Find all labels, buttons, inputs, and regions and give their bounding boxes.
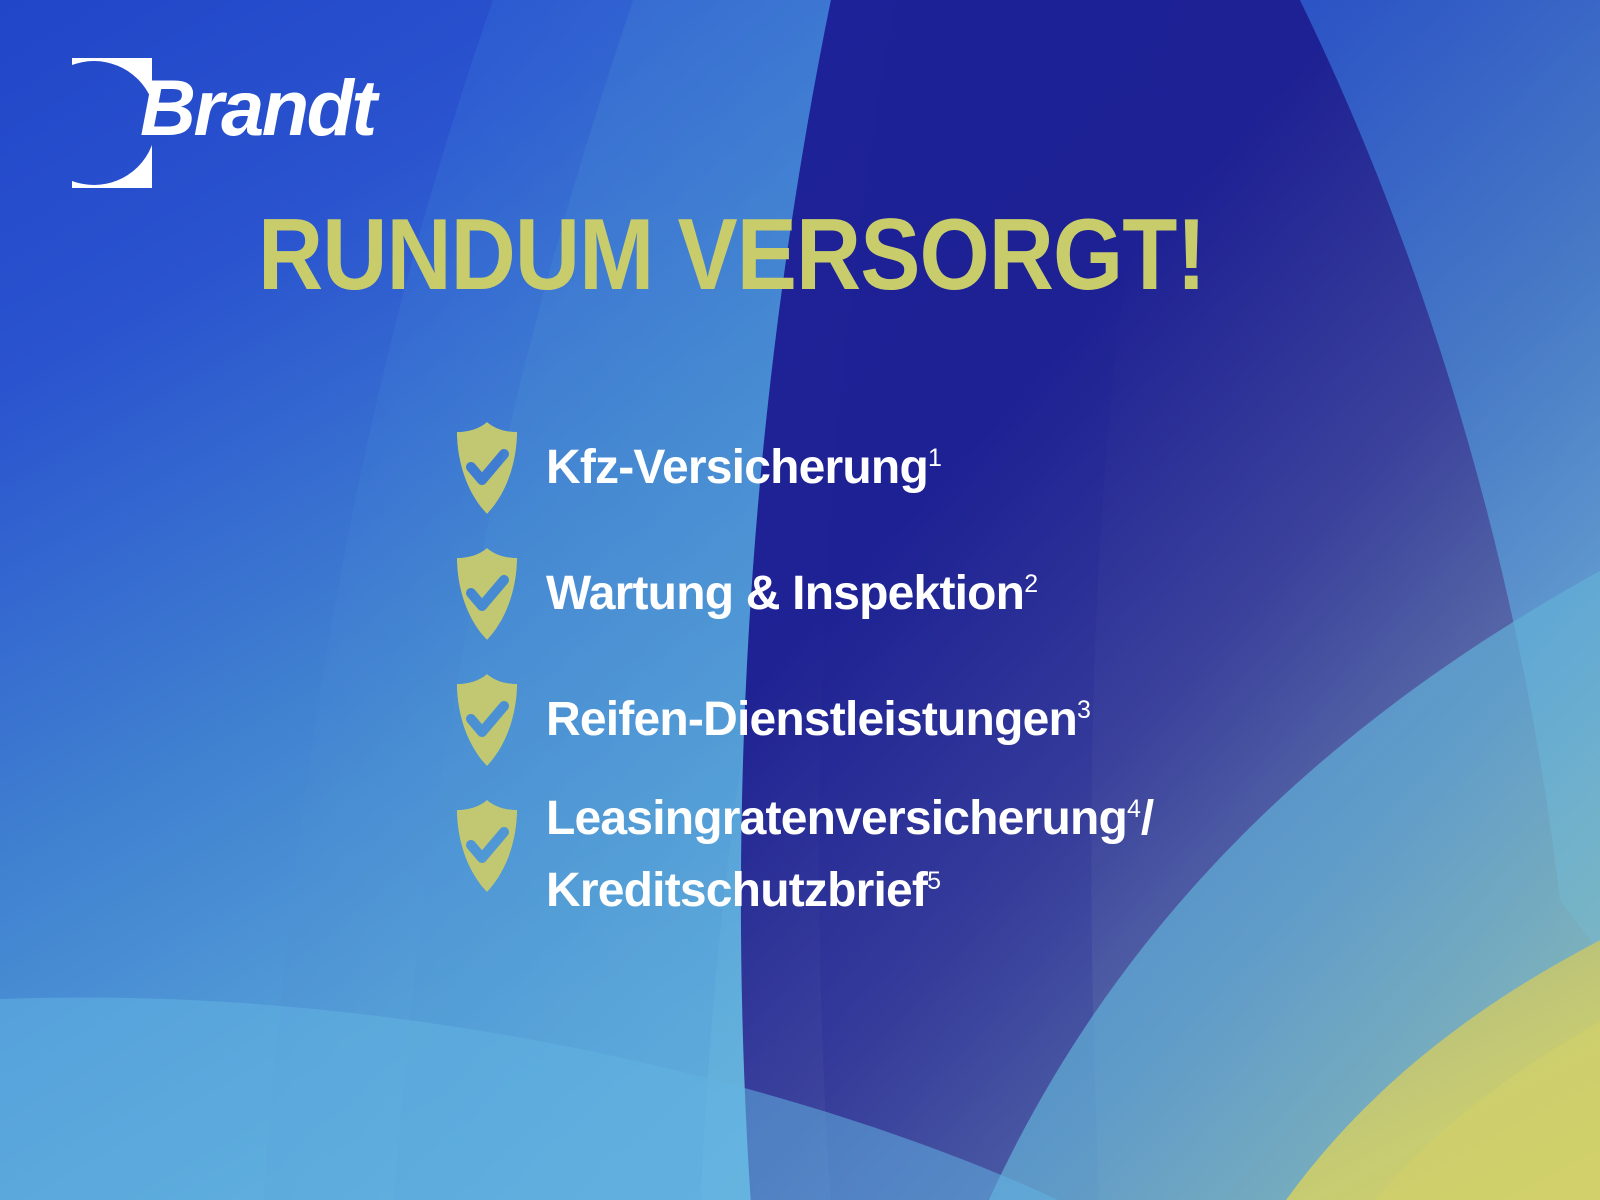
feature-list: Kfz-Versicherung1 Wartung & Inspektion2	[452, 416, 1552, 938]
footnote-marker: 2	[1024, 570, 1038, 598]
list-item: Wartung & Inspektion2	[452, 542, 1552, 646]
brand-wordmark: Brandt	[140, 68, 375, 147]
shield-check-icon	[452, 798, 522, 894]
page-title: RUNDUM VERSORGT!	[258, 205, 1206, 306]
feature-label: Reifen-Dienstleistungen3	[546, 695, 1091, 745]
footnote-marker: 1	[928, 444, 942, 472]
footnote-marker: 5	[927, 867, 941, 895]
feature-text-line2: Kreditschutzbrief	[546, 864, 927, 917]
feature-suffix: /	[1141, 792, 1154, 845]
feature-text: Kfz-Versicherung	[546, 441, 928, 494]
feature-text: Wartung & Inspektion	[546, 567, 1024, 620]
feature-label-line2: Kreditschutzbrief5	[546, 866, 1153, 916]
shield-check-icon	[452, 546, 522, 642]
feature-text: Reifen-Dienstleistungen	[546, 693, 1077, 746]
brand-logo: Brandt	[72, 56, 442, 192]
feature-text: Leasingratenversicherung	[546, 792, 1127, 845]
list-item: Kfz-Versicherung1	[452, 416, 1552, 520]
footnote-marker: 3	[1077, 696, 1091, 724]
feature-label: Kfz-Versicherung1	[546, 443, 942, 493]
footnote-marker: 4	[1127, 795, 1141, 823]
feature-label: Wartung & Inspektion2	[546, 569, 1038, 619]
shield-check-icon	[452, 672, 522, 768]
feature-label: Leasingratenversicherung4/ Kreditschutzb…	[546, 794, 1153, 916]
promo-graphic: Brandt RUNDUM VERSORGT! Kfz-Versicherung…	[0, 0, 1600, 1200]
list-item: Reifen-Dienstleistungen3	[452, 668, 1552, 772]
shield-check-icon	[452, 420, 522, 516]
list-item: Leasingratenversicherung4/ Kreditschutzb…	[452, 794, 1552, 916]
